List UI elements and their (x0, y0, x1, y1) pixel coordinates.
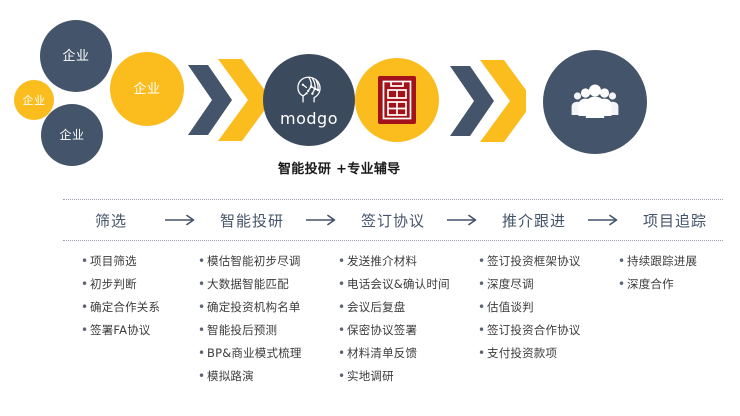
bullet-icon: • (338, 322, 347, 339)
list-item-label: 实地调研 (347, 368, 394, 385)
list-item-label: 签署FA协议 (90, 322, 151, 339)
list-item-label: 支付投资款项 (487, 345, 557, 362)
list-item-label: 深度尽调 (487, 276, 534, 293)
bullet-icon: • (338, 345, 347, 362)
stage-title: 项目追踪 (643, 210, 707, 231)
bullet-icon: • (198, 368, 207, 385)
list-item: •估值谈判 (478, 299, 618, 316)
list-item: •电话会议&确认时间 (338, 276, 478, 293)
flow-caption: 智能投研 +专业辅导 (278, 158, 400, 177)
bullet-icon: • (81, 299, 90, 316)
partner-brand-circle (355, 58, 439, 142)
list-item: •会议后复盘 (338, 299, 478, 316)
bullet-icon: • (478, 253, 487, 270)
bullet-icon: • (478, 345, 487, 362)
bullet-icon: • (81, 322, 90, 339)
stage-header-3: 推介跟进 (486, 210, 582, 231)
stage-column-2: •发送推介材料 •电话会议&确认时间 •会议后复盘 •保密协议签署 •材料清单反… (338, 253, 478, 391)
list-item-label: 深度合作 (627, 276, 674, 293)
list-item: •BP&商业模式梳理 (198, 345, 338, 362)
bullet-icon: • (338, 299, 347, 316)
list-item: •确定合作关系 (81, 299, 198, 316)
stage-arrow-icon (159, 214, 204, 226)
list-item: •签署FA协议 (81, 322, 198, 339)
fu-character-logo-icon (377, 75, 417, 125)
list-item-label: 大数据智能匹配 (207, 276, 289, 293)
enterprise-label: 企业 (59, 129, 84, 141)
list-item-label: 电话会议&确认时间 (347, 276, 450, 293)
bullet-icon: • (338, 253, 347, 270)
chevron-pair-icon (448, 58, 526, 144)
bullet-icon: • (81, 253, 90, 270)
list-item-label: BP&商业模式梳理 (207, 345, 302, 362)
stage-title: 签订协议 (361, 210, 425, 231)
enterprise-circle-bottom: 企业 (41, 104, 103, 166)
list-item-label: 模估智能初步尽调 (207, 253, 301, 270)
list-item-label: 估值谈判 (487, 299, 534, 316)
stage-header-4: 项目追踪 (627, 210, 723, 231)
ai-head-circuit-icon (292, 73, 326, 107)
bullet-icon: • (198, 253, 207, 270)
bullet-icon: • (478, 299, 487, 316)
list-item: •签订投资合作协议 (478, 322, 618, 339)
stage-column-3: •签订投资框架协议 •深度尽调 •估值谈判 •签订投资合作协议 •支付投资款项 (478, 253, 618, 391)
list-item: •确定投资机构名单 (198, 299, 338, 316)
modgo-wordmark: modgo (280, 109, 338, 128)
people-group-icon (570, 82, 620, 122)
list-item-label: 签订投资合作协议 (487, 322, 581, 339)
list-item: •支付投资款项 (478, 345, 618, 362)
stage-column-4: •持续跟踪进展 •深度合作 (618, 253, 723, 391)
bullet-icon: • (338, 276, 347, 293)
stage-column-0: •项目筛选 •初步判断 •确定合作关系 •签署FA协议 (63, 253, 198, 391)
double-chevron-arrow-1 (186, 57, 264, 147)
enterprise-label: 企业 (23, 95, 46, 106)
stage-header-2: 签订协议 (345, 210, 441, 231)
stage-body: •项目筛选 •初步判断 •确定合作关系 •签署FA协议 •模估智能初步尽调 •大… (63, 241, 723, 391)
list-item: •深度合作 (618, 276, 723, 293)
stage-header-0: 筛选 (63, 210, 159, 231)
bullet-icon: • (198, 322, 207, 339)
list-item: •智能投后预测 (198, 322, 338, 339)
list-item-label: 初步判断 (90, 276, 137, 293)
list-item-label: 智能投后预测 (207, 322, 277, 339)
chevron-pair-icon (186, 57, 264, 143)
stage-arrow-icon (300, 214, 345, 226)
stage-table: 筛选 智能投研 签订协议 推介跟进 项目追踪 •项目筛选 •初步判断 (63, 199, 723, 399)
stage-column-1: •模估智能初步尽调 •大数据智能匹配 •确定投资机构名单 •智能投后预测 •BP… (198, 253, 338, 391)
bullet-icon: • (338, 368, 347, 385)
list-item: •签订投资框架协议 (478, 253, 618, 270)
list-item: •大数据智能匹配 (198, 276, 338, 293)
modgo-logo: modgo (280, 73, 338, 128)
list-item: •模估智能初步尽调 (198, 253, 338, 270)
list-item: •保密协议签署 (338, 322, 478, 339)
stage-arrow-icon (441, 214, 486, 226)
list-item-label: 确定合作关系 (90, 299, 160, 316)
list-item: •初步判断 (81, 276, 198, 293)
enterprise-label: 企业 (133, 83, 160, 96)
stage-title: 智能投研 (220, 210, 284, 231)
double-chevron-arrow-2 (448, 58, 526, 148)
list-item: •项目筛选 (81, 253, 198, 270)
list-item-label: 确定投资机构名单 (207, 299, 301, 316)
list-item: •发送推介材料 (338, 253, 478, 270)
modgo-brand-circle: modgo (263, 54, 355, 146)
enterprise-label: 企业 (62, 50, 89, 63)
investors-group-circle (543, 50, 647, 154)
list-item-label: 会议后复盘 (347, 299, 406, 316)
bullet-icon: • (198, 276, 207, 293)
list-item-label: 持续跟踪进展 (627, 253, 697, 270)
stage-arrow-icon (582, 214, 627, 226)
list-item-label: 发送推介材料 (347, 253, 417, 270)
bullet-icon: • (81, 276, 90, 293)
list-item: •模拟路演 (198, 368, 338, 385)
bullet-icon: • (618, 253, 627, 270)
bullet-icon: • (198, 345, 207, 362)
stage-title: 推介跟进 (502, 210, 566, 231)
stage-title: 筛选 (95, 210, 127, 231)
bullet-icon: • (198, 299, 207, 316)
list-item-label: 材料清单反馈 (347, 345, 417, 362)
enterprise-circle-top: 企业 (40, 20, 112, 92)
list-item: •深度尽调 (478, 276, 618, 293)
flow-diagram: 企业 企业 企业 企业 (0, 0, 740, 190)
stage-header-1: 智能投研 (204, 210, 300, 231)
bullet-icon: • (478, 322, 487, 339)
list-item-label: 保密协议签署 (347, 322, 417, 339)
list-item-label: 模拟路演 (207, 368, 254, 385)
enterprise-circle-large: 企业 (110, 52, 184, 126)
list-item: •持续跟踪进展 (618, 253, 723, 270)
list-item: •实地调研 (338, 368, 478, 385)
list-item-label: 项目筛选 (90, 253, 137, 270)
stage-header-row: 筛选 智能投研 签订协议 推介跟进 项目追踪 (63, 199, 723, 241)
bullet-icon: • (478, 276, 487, 293)
bullet-icon: • (618, 276, 627, 293)
list-item: •材料清单反馈 (338, 345, 478, 362)
list-item-label: 签订投资框架协议 (487, 253, 581, 270)
